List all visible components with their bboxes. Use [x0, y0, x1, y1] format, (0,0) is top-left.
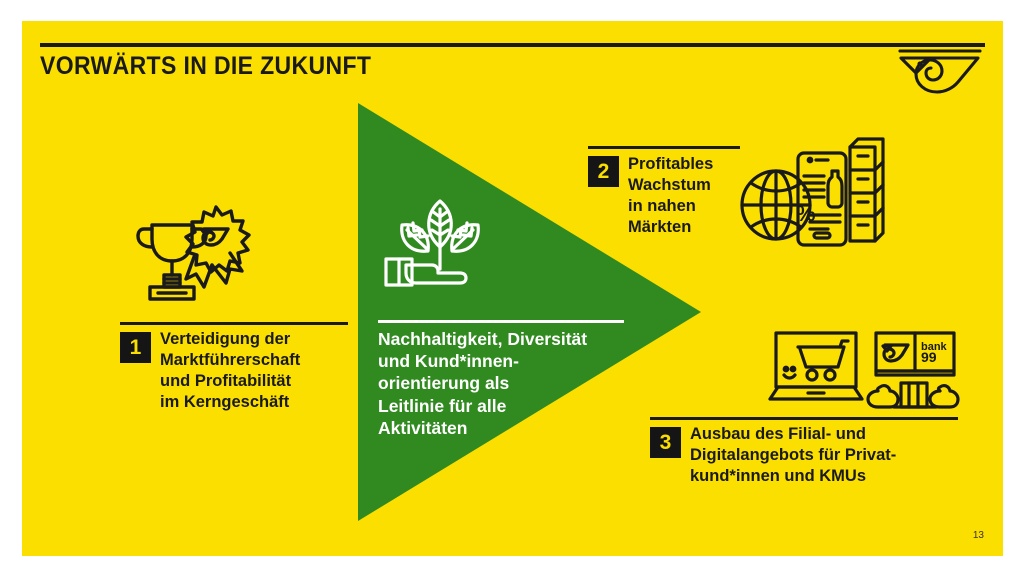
item-3-divider [650, 417, 958, 420]
slide-canvas: VORWÄRTS IN DIE ZUKUNFT [22, 21, 1003, 556]
header-divider [40, 43, 985, 47]
laptop-shopping-cart-bank99-branch-icon: bank 99 [768, 329, 960, 411]
item-2-divider [588, 146, 740, 149]
item-2-number-badge: 2 [588, 156, 619, 187]
bank99-label-line2: 99 [921, 349, 937, 365]
center-divider [378, 320, 624, 323]
item-1-divider [120, 322, 348, 325]
item-1-label: Verteidigung der Marktführerschaft und P… [160, 329, 360, 413]
item-3-number-badge: 3 [650, 427, 681, 458]
item-3-label: Ausbau des Filial- und Digitalangebots f… [690, 424, 980, 487]
item-1-number-badge: 1 [120, 332, 151, 363]
hand-holding-plant-icon [376, 189, 504, 299]
page-number: 13 [962, 530, 984, 541]
page-title: VORWÄRTS IN DIE ZUKUNFT [40, 52, 371, 81]
center-statement-text: Nachhaltigkeit, Diversität und Kund*inne… [378, 328, 668, 439]
item-2-label: Profitables Wachstum in nahen Märkten [628, 154, 768, 238]
percent-symbol-label: % [796, 201, 816, 226]
trophy-with-award-rosette-icon [134, 199, 254, 311]
oesterreichische-post-horn-logo [898, 42, 982, 98]
